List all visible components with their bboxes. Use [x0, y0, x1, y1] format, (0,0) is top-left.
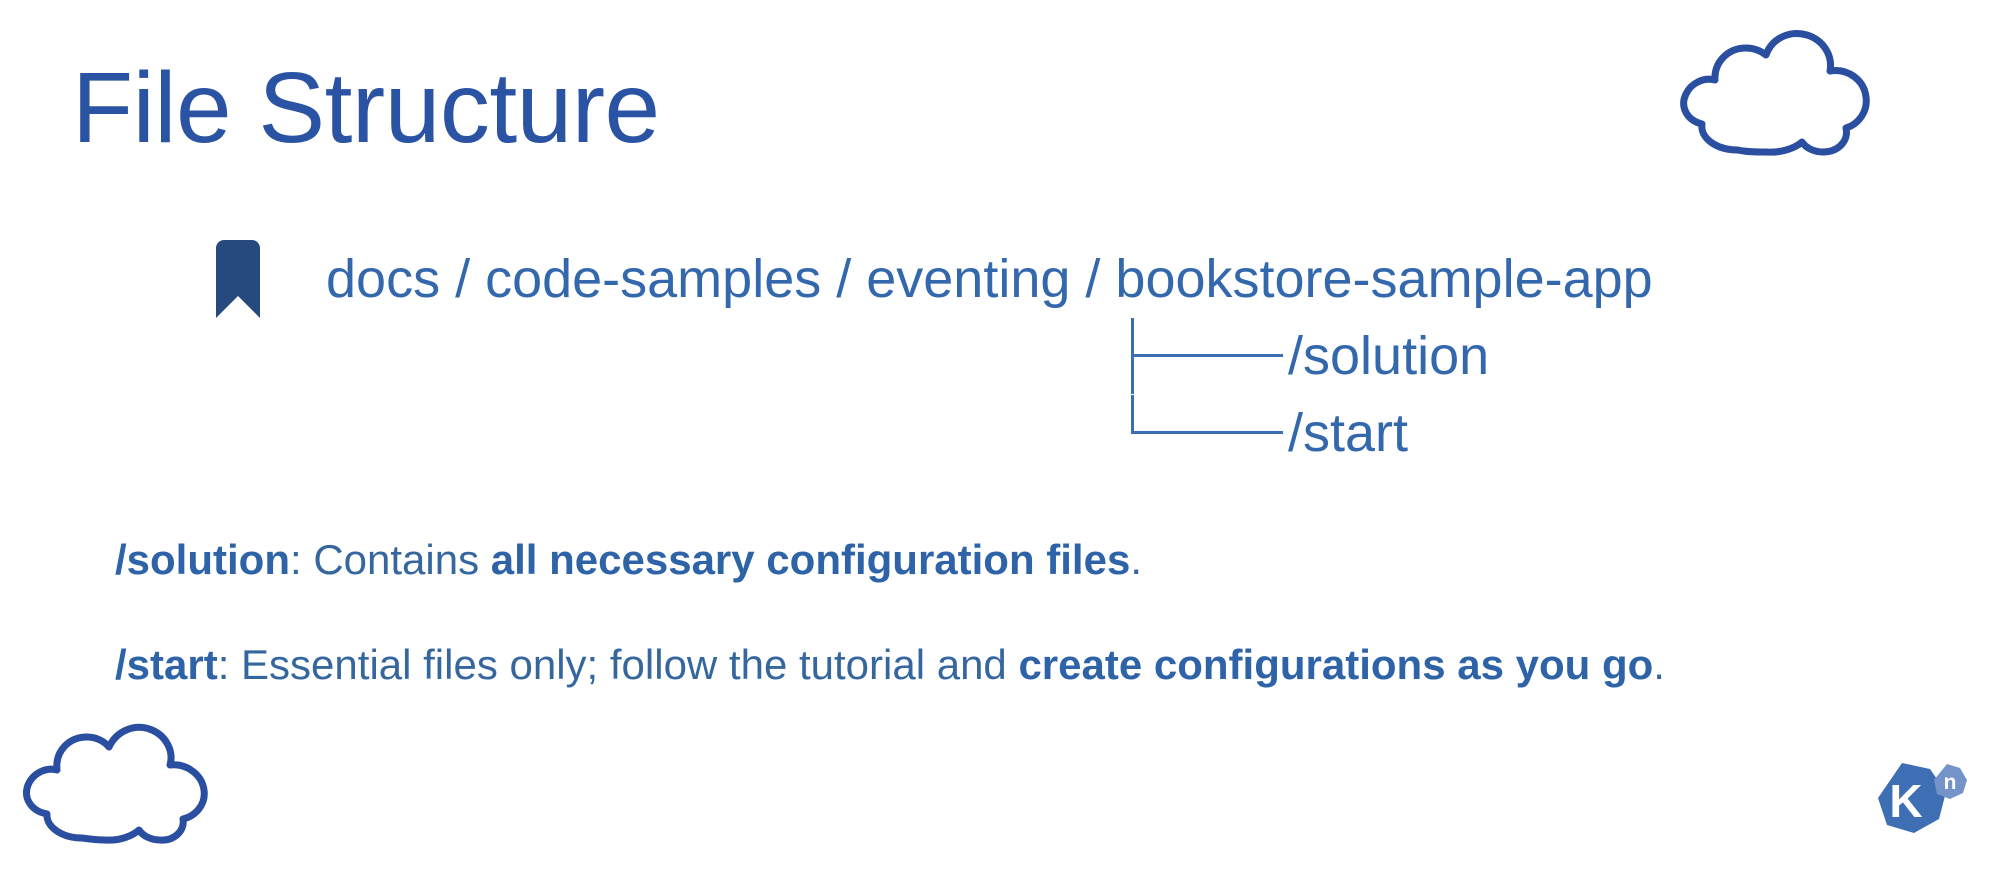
- text-run-2: all necessary configuration files: [491, 536, 1131, 583]
- bookmark-icon: [212, 240, 264, 318]
- text-run-1: : Contains: [290, 536, 491, 583]
- tree-item-start: /start: [1131, 395, 1408, 471]
- tree-item-label: /start: [1288, 406, 1408, 460]
- file-path-row: docs / code-samples / eventing / booksto…: [212, 236, 1653, 318]
- body-paragraph-start: /start: Essential files only; follow the…: [115, 641, 1665, 689]
- tree-branch-end-icon: [1131, 395, 1286, 471]
- text-run-2: create configurations as you go: [1018, 641, 1653, 688]
- text-run-1: : Essential files only; follow the tutor…: [218, 641, 1019, 688]
- tree-branch-icon: [1131, 318, 1286, 394]
- logo-letter-n: n: [1944, 771, 1957, 794]
- text-run-0: /start: [115, 641, 218, 688]
- knative-logo: K n: [1856, 755, 1972, 853]
- text-run-0: /solution: [115, 536, 290, 583]
- cloud-icon: [1676, 28, 1886, 156]
- page-title: File Structure: [72, 58, 660, 158]
- tree-item-solution: /solution: [1131, 318, 1489, 394]
- logo-letter-k: K: [1889, 775, 1922, 827]
- slide-canvas: File Structure docs / code-samples / eve…: [0, 0, 1999, 877]
- file-path-text: docs / code-samples / eventing / booksto…: [326, 252, 1653, 306]
- text-run-3: .: [1130, 536, 1142, 583]
- tree-item-label: /solution: [1288, 329, 1489, 383]
- body-paragraph-solution: /solution: Contains all necessary config…: [115, 536, 1142, 584]
- text-run-3: .: [1653, 641, 1665, 688]
- cloud-icon: [18, 718, 223, 844]
